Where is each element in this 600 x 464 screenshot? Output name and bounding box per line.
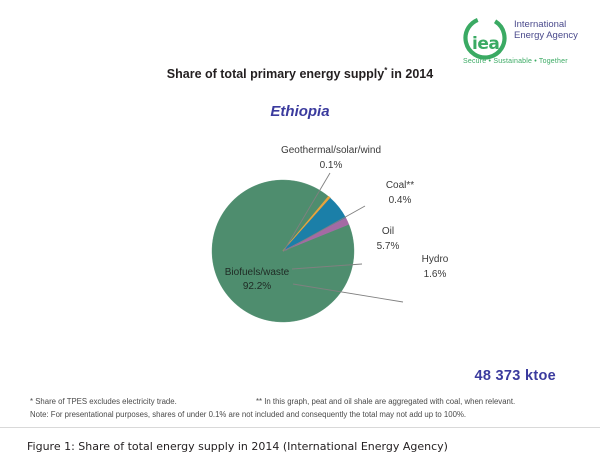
- figure-caption: Figure 1: Share of total energy supply i…: [27, 440, 448, 453]
- iea-logo-tagline: Secure • Sustainable • Together: [463, 58, 568, 65]
- chart-title: Share of total primary energy supply* in…: [0, 66, 600, 81]
- chart-title-main: Share of total primary energy supply: [167, 67, 384, 81]
- slice-label-coal: Coal**: [386, 180, 414, 191]
- slice-value-hydro: 1.6%: [424, 269, 447, 280]
- pie-chart: Geothermal/solar/wind 0.1% Coal** 0.4% O…: [150, 132, 510, 342]
- slice-value-geothermal: 0.1%: [320, 160, 343, 171]
- footnote-double-star: ** In this graph, peat and oil shale are…: [256, 396, 515, 407]
- pie-slices: [212, 180, 354, 322]
- slice-label-hydro: Hydro: [422, 254, 449, 265]
- slice-label-geothermal: Geothermal/solar/wind: [281, 145, 381, 156]
- slice-value-biofuels: 92.2%: [243, 281, 271, 292]
- figure-panel: iea International Energy Agency Secure •…: [0, 0, 600, 428]
- footnote-row: * Share of TPES excludes electricity tra…: [30, 396, 578, 407]
- footnote-note: Note: For presentational purposes, share…: [30, 409, 578, 420]
- footnotes: * Share of TPES excludes electricity tra…: [30, 396, 578, 420]
- slice-value-coal: 0.4%: [389, 195, 412, 206]
- iea-logo-name: International Energy Agency: [514, 19, 578, 41]
- iea-logo: iea International Energy Agency Secure •…: [458, 8, 592, 68]
- iea-logo-wordmark: iea: [472, 34, 499, 54]
- iea-logo-name-line2: Energy Agency: [514, 30, 578, 41]
- footnote-star: * Share of TPES excludes electricity tra…: [30, 396, 177, 407]
- pie-chart-svg: Geothermal/solar/wind 0.1% Coal** 0.4% O…: [150, 132, 510, 342]
- country-name: Ethiopia: [0, 103, 600, 120]
- iea-logo-name-line1: International: [514, 19, 578, 30]
- figure-page: iea International Energy Agency Secure •…: [0, 0, 600, 464]
- slice-label-oil: Oil: [382, 226, 394, 237]
- slice-label-biofuels: Biofuels/waste: [225, 267, 290, 278]
- chart-title-tail: in 2014: [387, 67, 433, 81]
- slice-value-oil: 5.7%: [377, 241, 400, 252]
- total-supply-value: 48 373 ktoe: [475, 368, 557, 384]
